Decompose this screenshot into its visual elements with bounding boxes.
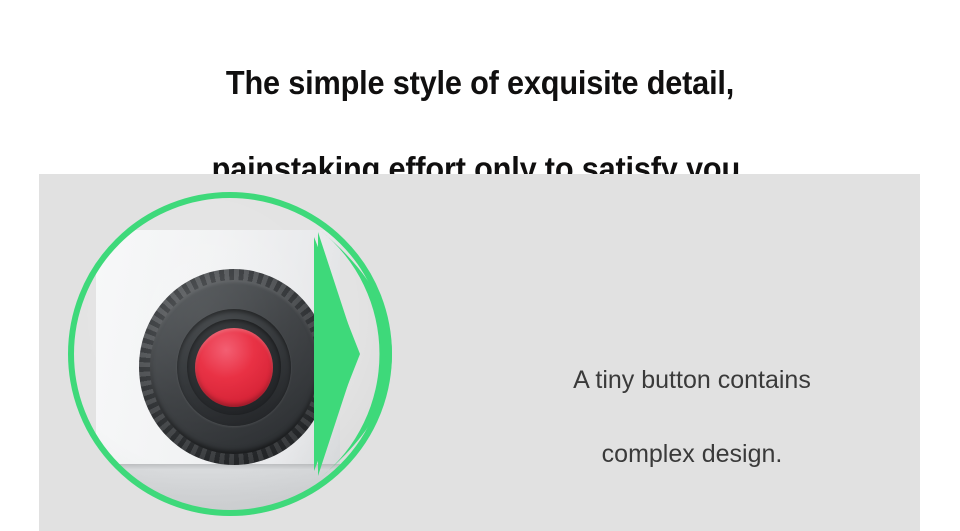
feature-caption-line-1: A tiny button contains <box>497 362 887 399</box>
magnified-photo-lens <box>68 192 392 516</box>
page-title-line-1: The simple style of exquisite detail, <box>34 61 927 104</box>
feature-panel: A tiny button contains complex design. <box>39 174 920 531</box>
callout-graphic <box>68 192 392 516</box>
feature-caption-line-2: complex design. <box>497 436 887 473</box>
feature-caption: A tiny button contains complex design. <box>497 325 887 510</box>
